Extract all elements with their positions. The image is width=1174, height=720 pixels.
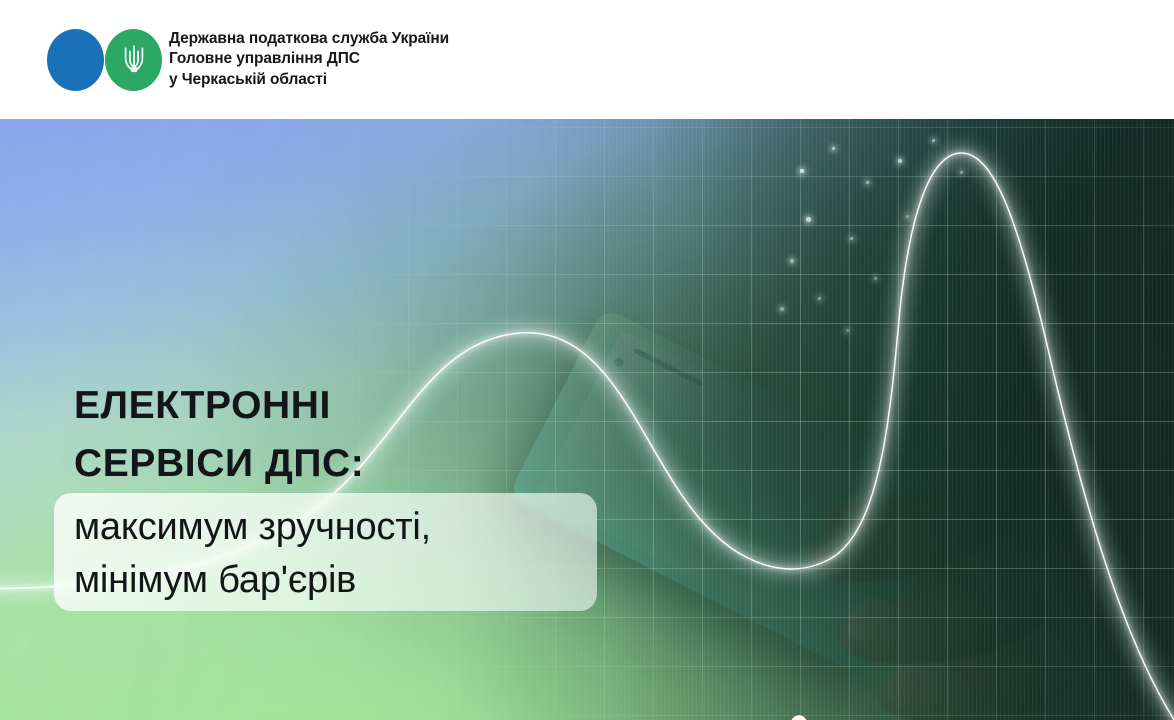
sparkle-particle [960,171,963,174]
sparkle-particle [800,169,804,173]
sparkle-particle [898,159,902,163]
headline-line-2: СЕРВІСИ ДПС: [74,435,364,493]
subtitle-line-2: мінімум бар'єрів [74,554,431,607]
sparkle-particle [932,139,935,142]
sparkle-particle [866,181,869,184]
page-subtitle: максимум зручності, мінімум бар'єрів [74,501,431,607]
sparkle-particle [832,147,835,150]
bezbarjernist-badge: безбар’єрність [770,714,1172,720]
sparkle-particle [874,277,877,280]
sparkle-particle [780,307,784,311]
subtitle-line-1: максимум зручності, [74,501,431,554]
sparkle-particle [906,215,909,218]
site-header: Державна податкова служба України Головн… [0,0,1174,119]
org-title-block: Державна податкова служба України Головн… [169,29,449,91]
sparkle-particle [818,297,821,300]
dps-logo [47,29,155,91]
sparkle-particle [790,259,794,263]
page-title: ЕЛЕКТРОННІ СЕРВІСИ ДПС: [74,377,364,493]
org-line-1: Державна податкова служба України [169,29,449,50]
sparkle-particle [850,237,853,240]
org-line-2: Головне управління ДПС [169,49,449,70]
headline-line-1: ЕЛЕКТРОННІ [74,377,364,435]
banner-root: Державна податкова служба України Головн… [0,0,1174,720]
bezbarjernist-dots-icon [770,714,828,720]
sparkle-particle [806,217,811,222]
logo-green-circle-icon [105,29,162,91]
sparkle-particle [846,329,849,332]
ukraine-trident-icon [121,43,147,77]
logo-blue-circle-icon [47,29,104,91]
org-line-3: у Черкаській області [169,70,449,91]
hero-banner: ЕЛЕКТРОННІ СЕРВІСИ ДПС: максимум зручнос… [0,119,1174,720]
